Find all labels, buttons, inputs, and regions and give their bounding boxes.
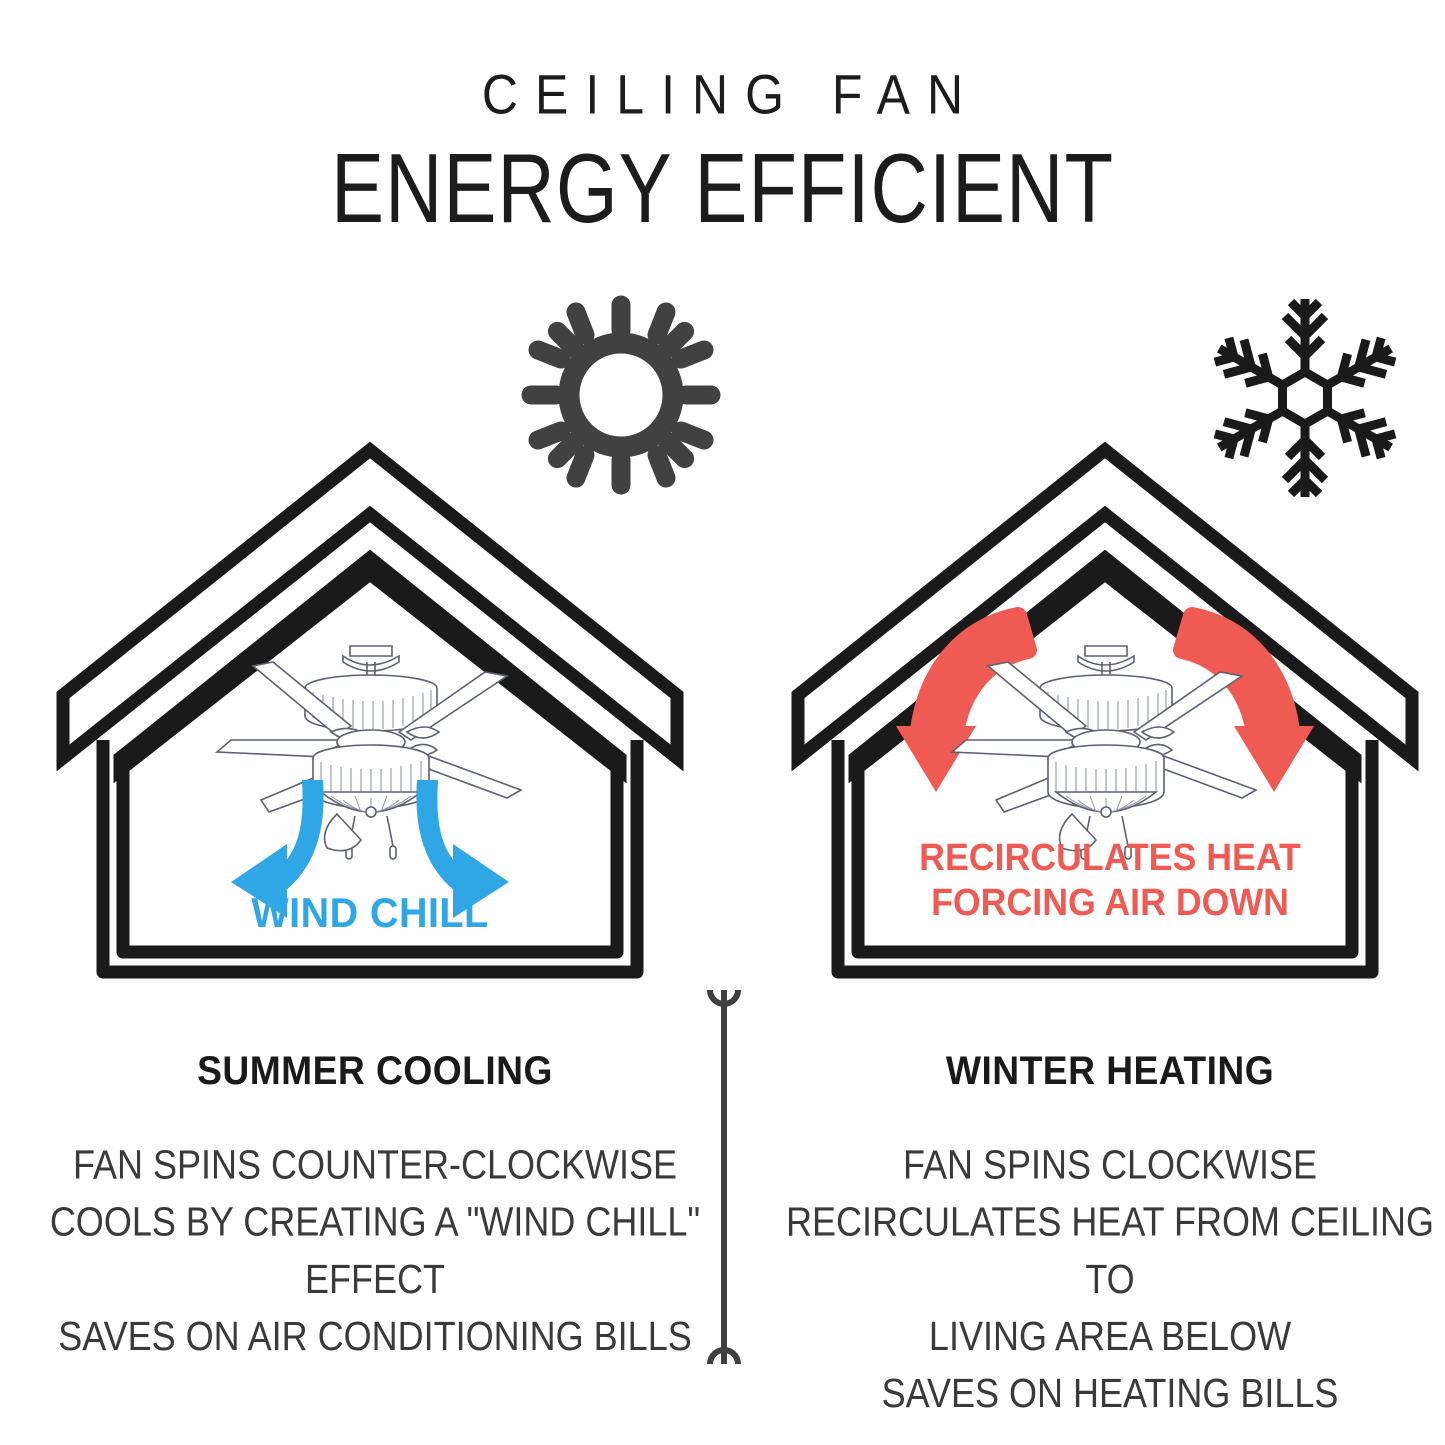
- summer-heading: SUMMER COOLING: [63, 1049, 686, 1094]
- winter-heading: WINTER HEATING: [798, 1049, 1421, 1094]
- winter-body-text: FAN SPINS CLOCKWISE RECIRCULATES HEAT FR…: [760, 1136, 1445, 1422]
- ceiling-fan-line-art: [952, 646, 1256, 859]
- ceiling-fan-line-art: [217, 646, 521, 859]
- wind-chill-label: WIND CHILL: [135, 888, 605, 938]
- page-title: ENERGY EFFICIENT: [22, 133, 1424, 246]
- summer-body-text: FAN SPINS COUNTER-CLOCKWISE COOLS BY CRE…: [30, 1136, 720, 1365]
- infographic-canvas: CEILING FAN ENERGY EFFICIENT: [0, 0, 1445, 1445]
- recirculates-heat-label: RECIRCULATES HEAT FORCING AIR DOWN: [875, 836, 1345, 926]
- page-kicker: CEILING FAN: [0, 62, 1445, 127]
